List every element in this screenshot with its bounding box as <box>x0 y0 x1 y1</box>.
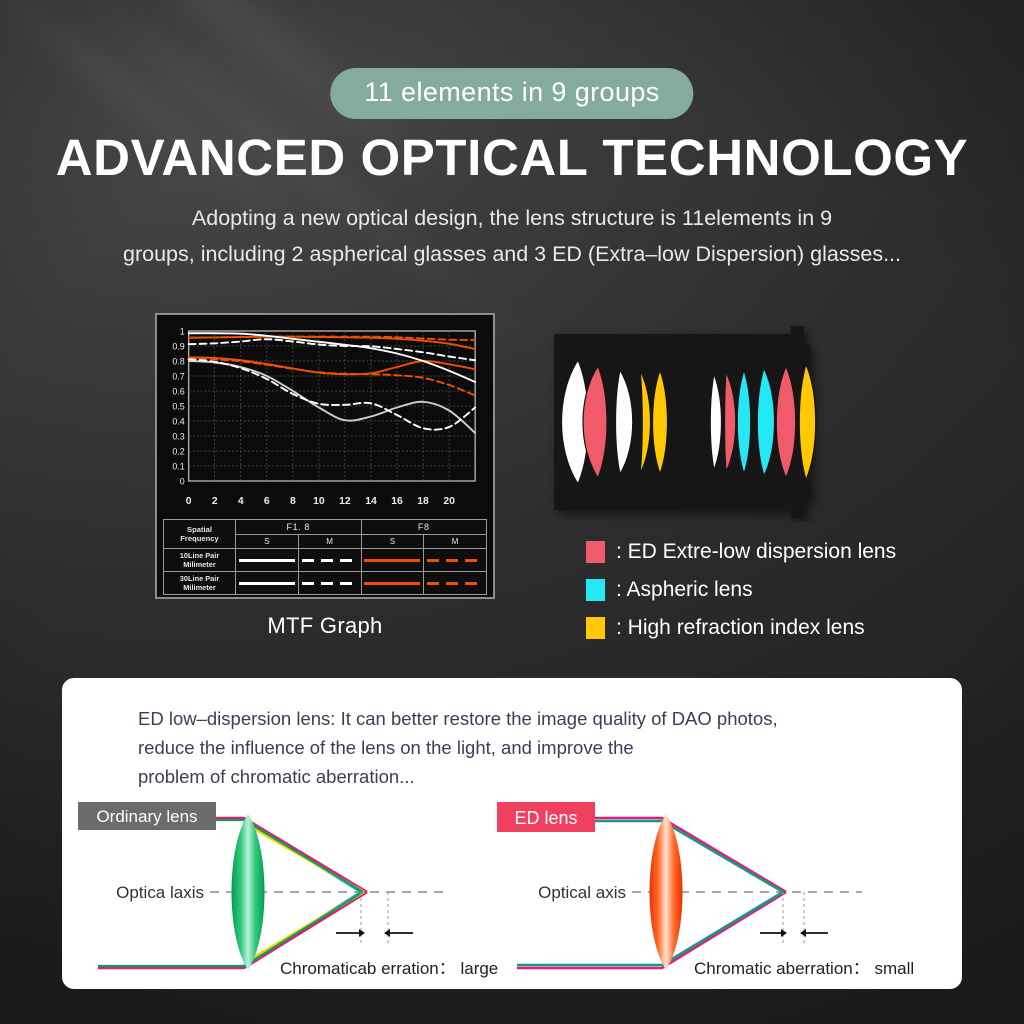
svg-text:14: 14 <box>365 496 377 507</box>
table-line-sample <box>236 572 299 595</box>
svg-text:0.2: 0.2 <box>172 446 184 456</box>
aberration-caption-large: Chromaticab erration： large <box>280 959 498 978</box>
legend-label: : ED Extre-low dispersion lens <box>616 540 896 564</box>
offset-arrow-head <box>800 929 806 937</box>
mtf-caption: MTF Graph <box>155 613 495 639</box>
mtf-legend-table: SpatialFrequencyF1. 8F8SMSM10Line PairMi… <box>163 519 487 595</box>
ray-green <box>98 892 363 966</box>
offset-arrow-head <box>384 929 390 937</box>
page-title: ADVANCED OPTICAL TECHNOLOGY <box>0 128 1024 187</box>
svg-text:16: 16 <box>391 496 403 507</box>
table-sm-header: M <box>298 535 361 549</box>
description-line-3: problem of chromatic aberration... <box>138 762 932 791</box>
offset-arrow-head <box>359 929 365 937</box>
svg-text:0.3: 0.3 <box>172 431 184 441</box>
svg-text:0.4: 0.4 <box>172 416 184 426</box>
lens-element <box>799 364 816 480</box>
svg-text:18: 18 <box>417 496 429 507</box>
table-line-sample <box>236 549 299 572</box>
table-sm-header: M <box>424 535 487 549</box>
lens-cross-section <box>548 322 948 522</box>
legend-item: : Aspheric lens <box>586 578 896 602</box>
lens-color-legend: : ED Extre-low dispersion lens : Aspheri… <box>586 540 896 654</box>
table-aperture-header: F1. 8 <box>236 520 362 535</box>
svg-text:0.6: 0.6 <box>172 386 184 396</box>
svg-text:4: 4 <box>238 496 244 507</box>
aberration-comparison: Ordinary lens Optica laxis Chromaticab e… <box>62 796 962 989</box>
subtitle-line-1: Adopting a new optical design, the lens … <box>192 206 832 230</box>
subtitle-line-2: groups, including 2 aspherical glasses a… <box>0 236 1024 272</box>
page-subtitle: Adopting a new optical design, the lens … <box>0 200 1024 272</box>
offset-arrow-head <box>781 929 787 937</box>
table-line-sample <box>424 572 487 595</box>
legend-label: : Aspheric lens <box>616 578 753 602</box>
table-line-sample <box>361 572 424 595</box>
ordinary-lens-glass <box>232 814 265 970</box>
svg-text:0: 0 <box>186 496 192 507</box>
ray-green <box>98 820 363 892</box>
ed-lens-diagram: ED lens Optical axis Chromatic aberratio… <box>497 802 914 978</box>
mtf-graph-block: 00.10.20.30.40.50.60.70.80.91 0246810121… <box>155 313 495 639</box>
table-row: 10Line PairMilimeter <box>164 549 487 572</box>
optical-axis-label: Optica laxis <box>116 883 204 902</box>
aberration-diagrams-svg: Ordinary lens Optica laxis Chromaticab e… <box>62 796 962 989</box>
elements-badge: 11 elements in 9 groups <box>330 68 693 119</box>
svg-text:0.8: 0.8 <box>172 356 184 366</box>
svg-text:10: 10 <box>313 496 325 507</box>
legend-label: : High refraction index lens <box>616 616 865 640</box>
mtf-x-tick-labels: 02468101214161820 <box>186 496 455 507</box>
table-sm-header: S <box>361 535 424 549</box>
ed-lens-glass <box>650 814 683 970</box>
table-row-label: 30Line PairMilimeter <box>164 572 236 595</box>
ordinary-lens-badge-label: Ordinary lens <box>96 807 197 826</box>
lens-diagram-svg <box>548 322 948 522</box>
table-sm-header: S <box>236 535 299 549</box>
ed-lens-badge-label: ED lens <box>514 808 577 828</box>
svg-text:6: 6 <box>264 496 270 507</box>
legend-swatch <box>586 617 605 639</box>
table-line-sample <box>424 549 487 572</box>
mtf-y-tick-labels: 00.10.20.30.40.50.60.70.80.91 <box>172 326 184 486</box>
table-row-label: 10Line PairMilimeter <box>164 549 236 572</box>
mtf-chart-svg: 00.10.20.30.40.50.60.70.80.91 0246810121… <box>163 321 487 517</box>
legend-swatch <box>586 541 605 563</box>
svg-text:8: 8 <box>290 496 296 507</box>
mtf-plot: 00.10.20.30.40.50.60.70.80.91 0246810121… <box>163 321 487 517</box>
table-line-sample <box>298 572 361 595</box>
description-line-1: ED low–dispersion lens: It can better re… <box>138 704 932 733</box>
legend-swatch <box>586 579 605 601</box>
legend-item: : High refraction index lens <box>586 616 896 640</box>
table-line-sample <box>298 549 361 572</box>
svg-text:0.1: 0.1 <box>172 461 184 471</box>
table-aperture-header: F8 <box>361 520 487 535</box>
ed-lens-description: ED low–dispersion lens: It can better re… <box>138 704 932 791</box>
svg-text:2: 2 <box>212 496 218 507</box>
table-row: 30Line PairMilimeter <box>164 572 487 595</box>
ed-lens-explainer-panel: ED low–dispersion lens: It can better re… <box>62 678 962 989</box>
mtf-card: 00.10.20.30.40.50.60.70.80.91 0246810121… <box>155 313 495 599</box>
svg-text:0.7: 0.7 <box>172 371 184 381</box>
table-line-sample <box>361 549 424 572</box>
svg-text:0: 0 <box>180 476 185 486</box>
svg-text:0.9: 0.9 <box>172 341 184 351</box>
ordinary-lens-diagram: Ordinary lens Optica laxis Chromaticab e… <box>78 802 498 978</box>
svg-text:12: 12 <box>339 496 351 507</box>
aberration-caption-small: Chromatic aberration： small <box>694 959 914 978</box>
svg-text:1: 1 <box>180 326 185 336</box>
optical-axis-label: Optical axis <box>538 883 626 902</box>
svg-text:20: 20 <box>443 496 455 507</box>
legend-item: : ED Extre-low dispersion lens <box>586 540 896 564</box>
table-corner-label: SpatialFrequency <box>164 520 236 549</box>
svg-text:0.5: 0.5 <box>172 401 184 411</box>
description-line-2: reduce the influence of the lens on the … <box>138 733 932 762</box>
